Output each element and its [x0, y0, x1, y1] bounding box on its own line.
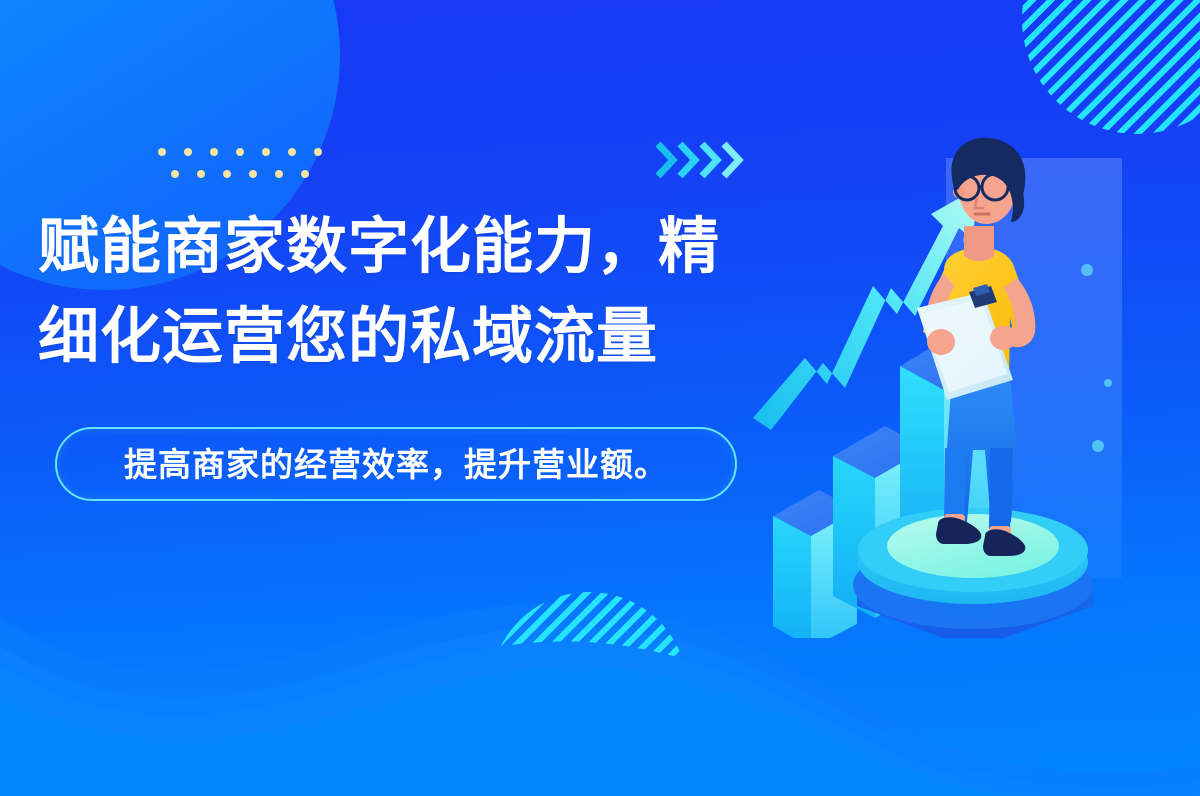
promo-banner: 赋能商家数字化能力，精 细化运营您的私域流量 提高商家的经营效率，提升营业额。 — [0, 0, 1200, 796]
striped-circle-top-right-icon — [1022, 0, 1200, 134]
subtitle-text: 提高商家的经营效率，提升营业额。 — [124, 448, 668, 481]
hero-illustration — [745, 118, 1200, 638]
page-title: 赋能商家数字化能力，精 细化运营您的私域流量 — [38, 201, 778, 381]
subtitle-pill: 提高商家的经营效率，提升营业额。 — [55, 427, 737, 501]
yellow-dot-grid-icon — [158, 148, 338, 184]
businessman-growth-illustration-icon — [745, 118, 1200, 638]
chevron-arrows-icon — [655, 140, 755, 180]
